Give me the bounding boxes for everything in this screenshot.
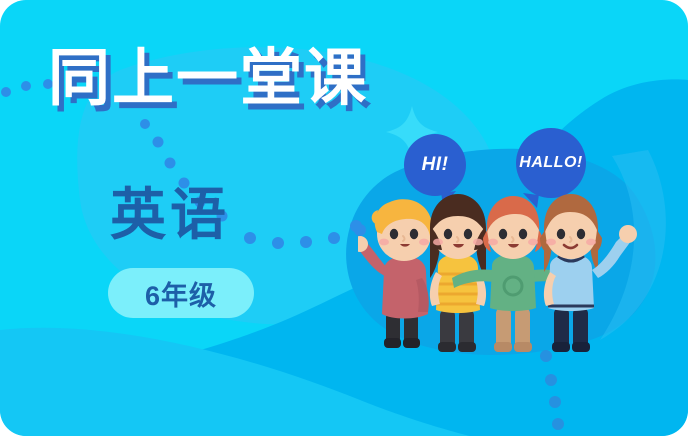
subject-title: 英语 xyxy=(110,186,230,245)
course-cover-card: 同上一堂课 英语 6年级 HI! HALLO! xyxy=(0,0,688,436)
children-illustration xyxy=(358,186,678,361)
grade-badge-label: 6年级 xyxy=(145,274,217,313)
page-title: 同上一堂课 xyxy=(48,46,368,113)
hi-speech-bubble-text: HI! xyxy=(422,154,449,176)
hallo-speech-bubble-text: HALLO! xyxy=(519,154,582,172)
character-kid-blonde-waving xyxy=(358,199,432,348)
grade-badge: 6年级 xyxy=(108,268,254,318)
character-kid-lightbrown-blue xyxy=(540,194,637,352)
